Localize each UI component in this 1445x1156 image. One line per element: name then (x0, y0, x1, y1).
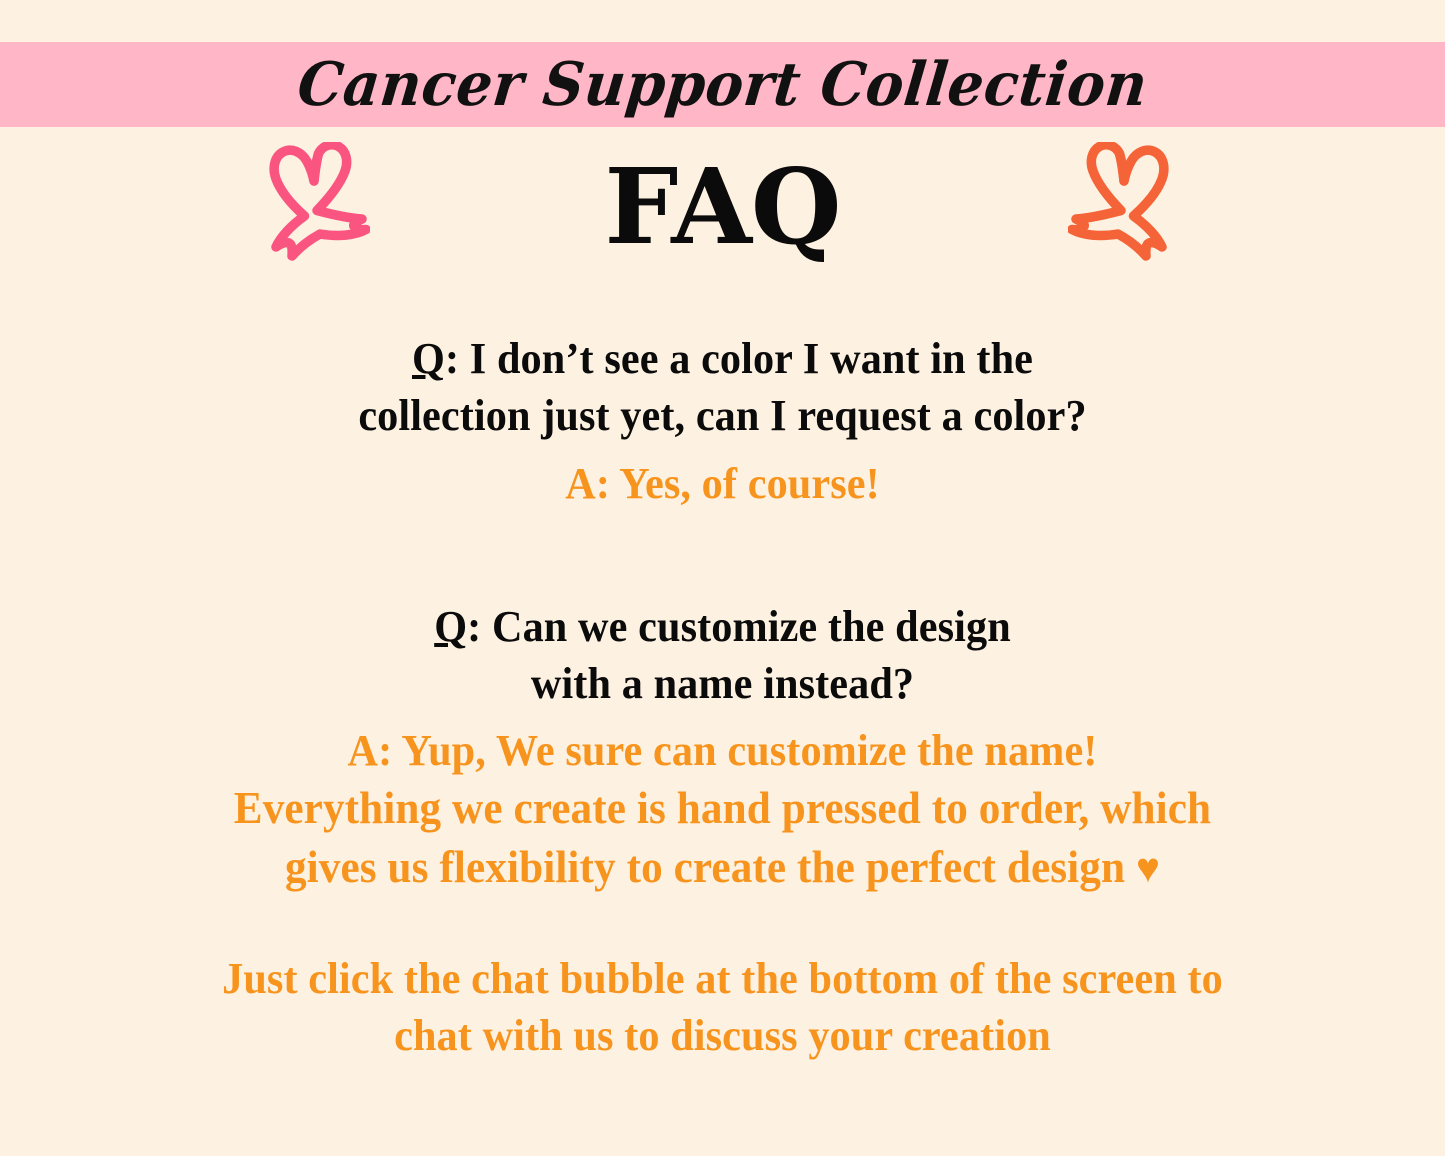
closing-line: Just click the chat bubble at the bottom… (29, 950, 1416, 1007)
q-prefix: Q (412, 334, 445, 383)
closing-message: Just click the chat bubble at the bottom… (0, 950, 1445, 1064)
answer-line: A: Yup, We sure can customize the name! (29, 722, 1416, 779)
question-line: with a name instead? (29, 655, 1416, 712)
answer-line: gives us flexibility to create the perfe… (29, 838, 1416, 897)
page-title: FAQ (0, 152, 1445, 261)
question-line-text-2a: : Can we customize the design (467, 602, 1011, 651)
faq-question-1: Q: I don’t see a color I want in the col… (0, 330, 1445, 444)
answer-line: Everything we create is hand pressed to … (29, 779, 1416, 838)
question-line: Q: I don’t see a color I want in the (29, 330, 1416, 387)
answer-line: A: Yes, of course! (29, 455, 1416, 512)
q-prefix: Q (434, 602, 467, 651)
faq-answer-1: A: Yes, of course! (0, 455, 1445, 512)
faq-question-2: Q: Can we customize the design with a na… (0, 598, 1445, 712)
collection-title: Cancer Support Collection (295, 55, 1150, 115)
question-line: Q: Can we customize the design (29, 598, 1416, 655)
question-line: collection just yet, can I request a col… (29, 387, 1416, 444)
faq-answer-2: A: Yup, We sure can customize the name! … (0, 722, 1445, 896)
closing-line: chat with us to discuss your creation (29, 1007, 1416, 1064)
heart-icon: ♥ (1136, 846, 1160, 892)
question-line-text-1a: : I don’t see a color I want in the (445, 334, 1033, 383)
faq-page: Cancer Support Collection FAQ Q: I don’t… (0, 0, 1445, 1156)
header-banner: Cancer Support Collection (0, 42, 1445, 127)
